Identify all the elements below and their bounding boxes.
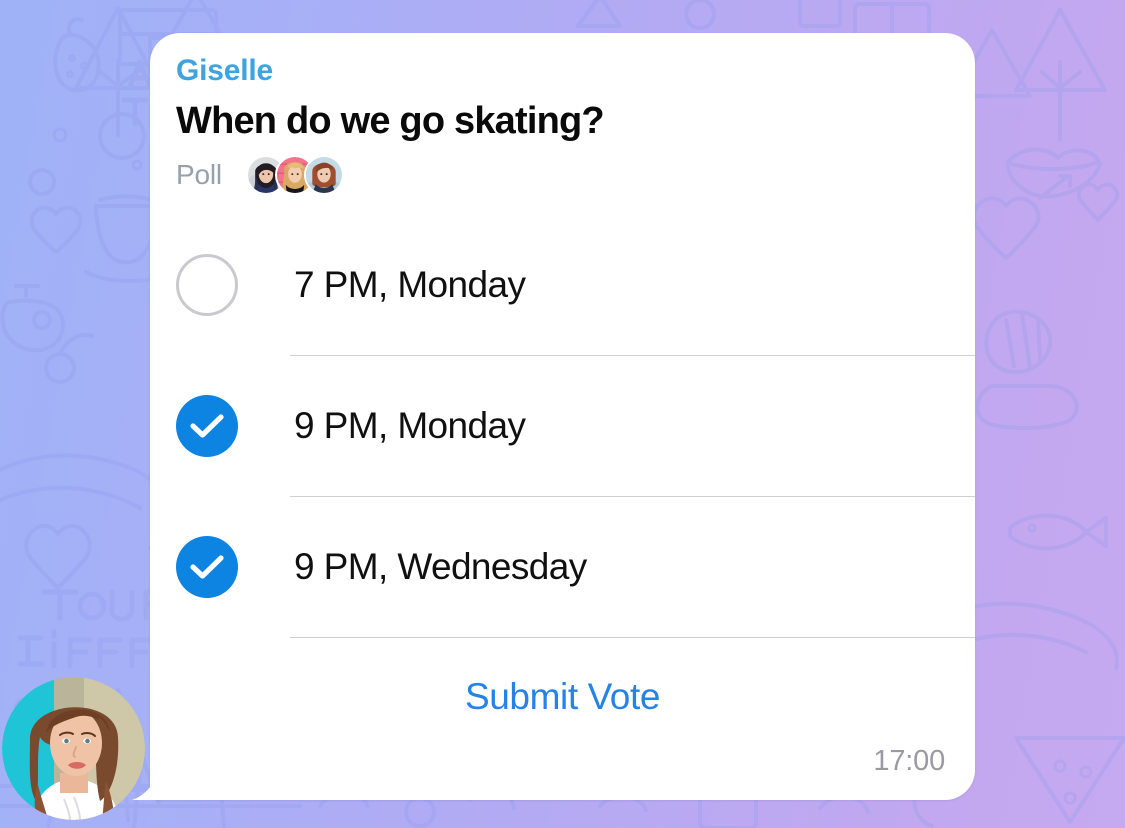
poll-option-3[interactable]: 9 PM, Wednesday (176, 496, 975, 637)
poll-option-1[interactable]: 7 PM, Monday (176, 214, 975, 355)
poll-voters-avatars[interactable] (246, 155, 344, 195)
poll-meta-row: Poll (176, 152, 975, 198)
radio-unchecked-icon[interactable] (176, 254, 238, 316)
poll-type-label: Poll (176, 159, 222, 191)
poll-option-label: 9 PM, Monday (294, 405, 525, 447)
submit-vote-button[interactable]: Submit Vote (465, 676, 660, 718)
voter-avatar-3[interactable] (304, 155, 344, 195)
poll-option-label: 9 PM, Wednesday (294, 546, 587, 588)
user-avatar[interactable] (2, 677, 145, 820)
checkmark-checked-icon[interactable] (176, 395, 238, 457)
poll-option-label: 7 PM, Monday (294, 264, 525, 306)
sender-name[interactable]: Giselle (176, 53, 975, 89)
poll-option-2[interactable]: 9 PM, Monday (176, 355, 975, 496)
chat-screen: Giselle When do we go skating? Poll (0, 0, 1125, 828)
submit-vote-row: Submit Vote (176, 637, 975, 757)
poll-question: When do we go skating? (176, 98, 975, 144)
checkmark-checked-icon[interactable] (176, 536, 238, 598)
message-timestamp: 17:00 (873, 745, 945, 778)
poll-options-list: 7 PM, Monday 9 PM, Monday (176, 214, 975, 757)
poll-message-bubble: Giselle When do we go skating? Poll (150, 33, 975, 800)
